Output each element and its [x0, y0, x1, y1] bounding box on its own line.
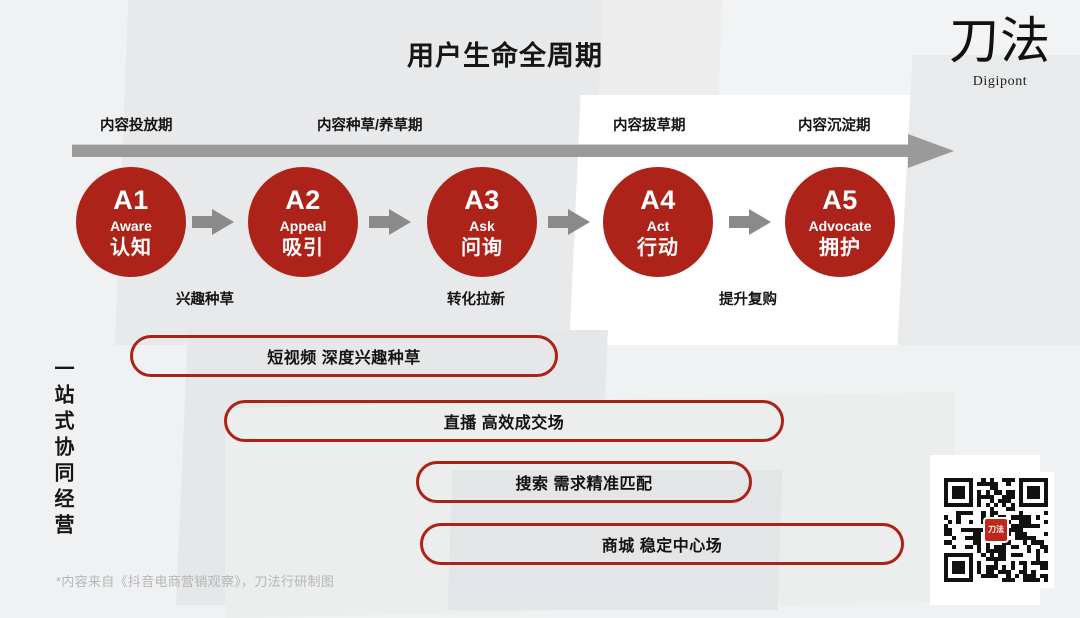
- stage-en-a2: Appeal: [280, 219, 327, 233]
- stage-code-a4: A4: [640, 187, 676, 214]
- phase-label-4: 内容沉淀期: [798, 114, 871, 135]
- brand-logo: 刀法 Digipont: [946, 14, 1054, 90]
- qr-code-logo-badge: 刀法: [983, 517, 1009, 543]
- stage-cn-a4: 行动: [637, 238, 679, 258]
- channel-capsule-short-video[interactable]: 短视频 深度兴趣种草: [130, 335, 558, 377]
- timeline-arrow-head: [908, 134, 954, 168]
- phase-label-3: 内容拔草期: [613, 114, 686, 135]
- channel-capsule-mall[interactable]: 商城 稳定中心场: [420, 523, 904, 565]
- stage-cn-a2: 吸引: [282, 238, 324, 258]
- channel-capsule-livestream[interactable]: 直播 高效成交场: [224, 400, 784, 442]
- qr-code[interactable]: 刀法: [938, 472, 1054, 588]
- source-footnote: *内容来自《抖音电商营销观察》，刀法行研制图: [56, 571, 334, 590]
- slide-content: 用户生命全周期 刀法 Digipont 内容投放期 内容种草/养草期 内容拔草期…: [0, 0, 1080, 605]
- stage-en-a5: Advocate: [808, 219, 871, 233]
- timeline-arrow-shaft: [72, 144, 910, 157]
- side-vertical-label: 一站式协同经营: [52, 358, 72, 540]
- brand-logo-en: Digipont: [946, 74, 1054, 90]
- stage-code-a3: A3: [464, 187, 500, 214]
- channel-capsule-search[interactable]: 搜索 需求精准匹配: [416, 461, 752, 503]
- timeline-arrow: [72, 140, 952, 162]
- sublabel-1: 兴趣种草: [176, 288, 234, 309]
- qr-code-matrix: 刀法: [944, 478, 1048, 582]
- phase-label-2: 内容种草/养草期: [317, 114, 423, 135]
- sublabel-3: 提升复购: [719, 288, 777, 309]
- sublabel-2: 转化拉新: [447, 288, 505, 309]
- stage-code-a1: A1: [113, 187, 149, 214]
- stage-circle-a1[interactable]: A1 Aware 认知: [76, 167, 186, 277]
- stage-arrow-3-icon: [548, 209, 590, 235]
- stage-code-a2: A2: [285, 187, 321, 214]
- stage-en-a3: Ask: [469, 219, 495, 233]
- stage-cn-a5: 拥护: [819, 238, 861, 258]
- stage-circle-a3[interactable]: A3 Ask 问询: [427, 167, 537, 277]
- page-title: 用户生命全周期: [0, 34, 1010, 73]
- stage-cn-a3: 问询: [461, 238, 503, 258]
- brand-logo-cn: 刀法: [946, 14, 1054, 68]
- stage-arrow-4-icon: [729, 209, 771, 235]
- stage-arrow-1-icon: [192, 209, 234, 235]
- stage-cn-a1: 认知: [110, 238, 152, 258]
- stage-en-a4: Act: [647, 219, 670, 233]
- stage-en-a1: Aware: [110, 219, 152, 233]
- phase-label-1: 内容投放期: [100, 114, 173, 135]
- stage-circle-a4[interactable]: A4 Act 行动: [603, 167, 713, 277]
- stage-circle-a5[interactable]: A5 Advocate 拥护: [785, 167, 895, 277]
- stage-code-a5: A5: [822, 187, 858, 214]
- stage-arrow-2-icon: [369, 209, 411, 235]
- stage-circle-a2[interactable]: A2 Appeal 吸引: [248, 167, 358, 277]
